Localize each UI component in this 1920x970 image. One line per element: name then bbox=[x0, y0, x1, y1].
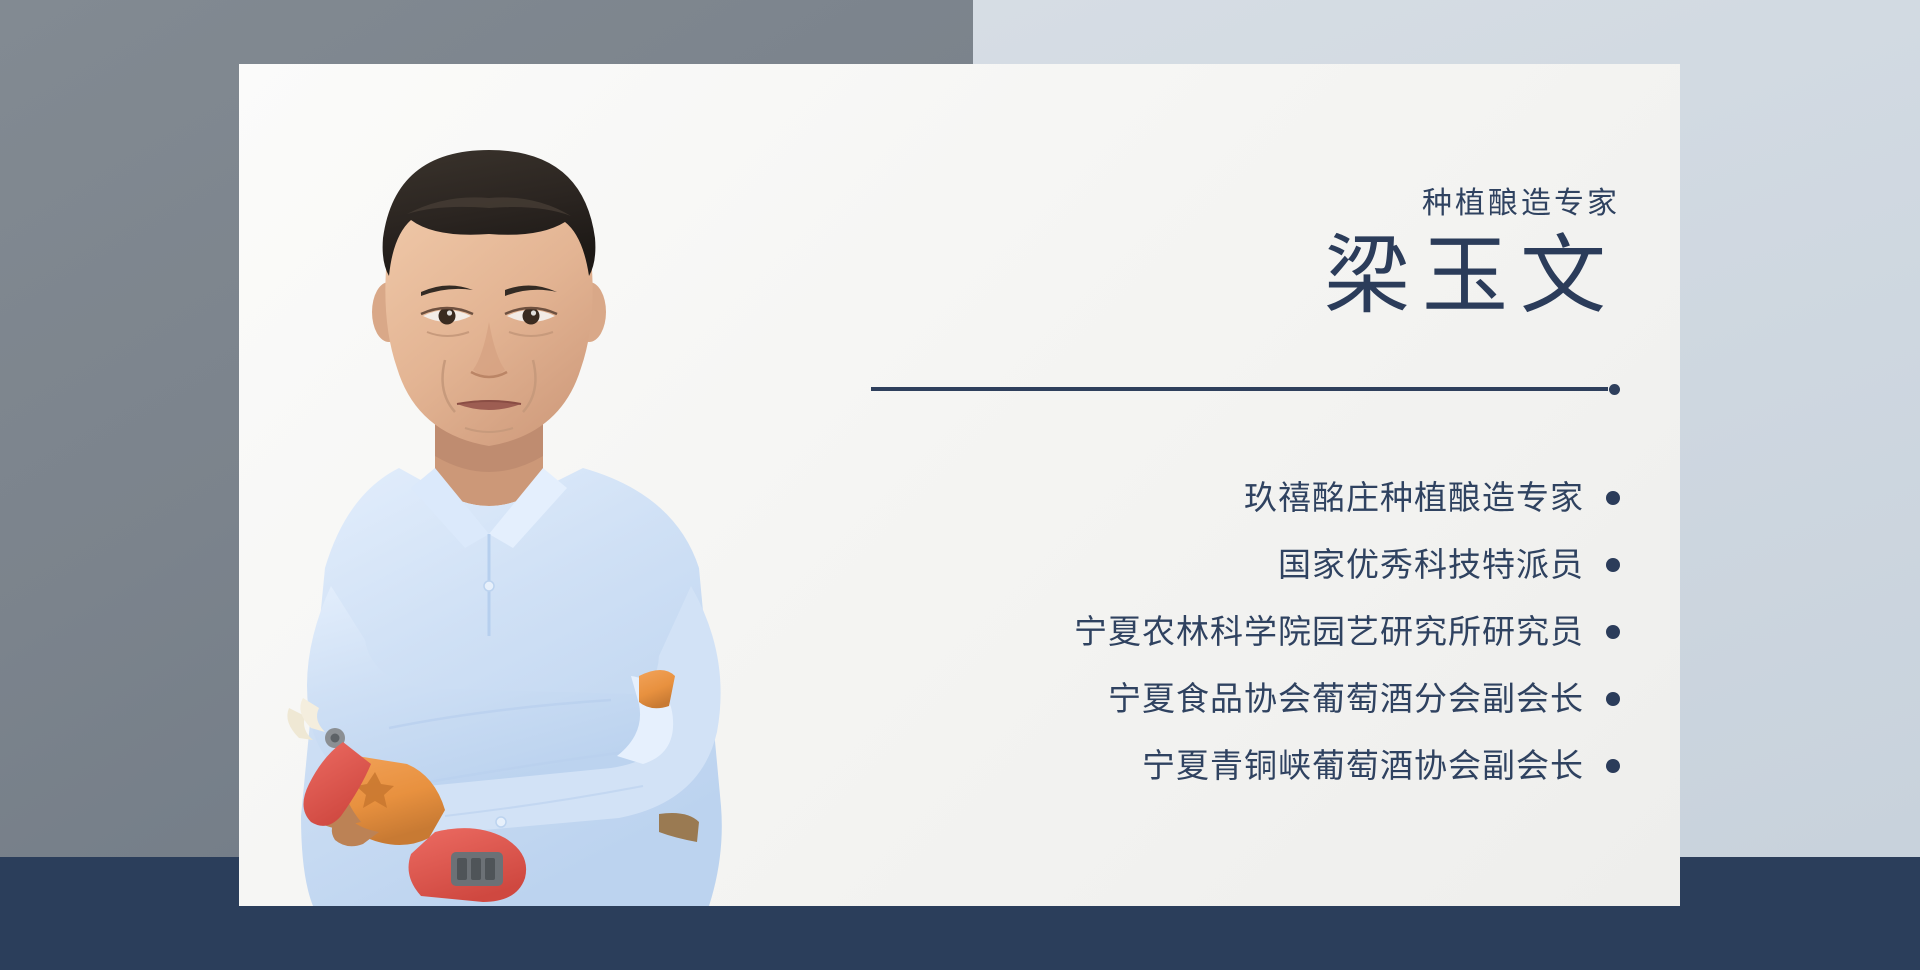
bullet-dot-icon bbox=[1606, 558, 1620, 572]
list-item: 宁夏食品协会葡萄酒分会副会长 bbox=[879, 665, 1620, 732]
list-item: 玖禧酩庄种植酿造专家 bbox=[879, 464, 1620, 531]
bullet-dot-icon bbox=[1606, 491, 1620, 505]
profile-card: 种植酿造专家 梁玉文 玖禧酩庄种植酿造专家 国家优秀科技特派员 宁夏农林科学院园… bbox=[239, 64, 1680, 906]
profile-name: 梁玉文 bbox=[1324, 231, 1620, 321]
credential-label: 玖禧酩庄种植酿造专家 bbox=[1244, 481, 1584, 514]
credential-label: 宁夏青铜峡葡萄酒协会副会长 bbox=[1142, 749, 1584, 782]
bullet-dot-icon bbox=[1606, 692, 1620, 706]
divider bbox=[871, 382, 1620, 396]
credentials-list: 玖禧酩庄种植酿造专家 国家优秀科技特派员 宁夏农林科学院园艺研究所研究员 宁夏食… bbox=[879, 464, 1620, 799]
divider-end-dot bbox=[1609, 384, 1620, 395]
profile-subtitle: 种植酿造专家 bbox=[1422, 189, 1620, 219]
divider-rule bbox=[871, 387, 1608, 391]
credential-label: 宁夏农林科学院园艺研究所研究员 bbox=[1074, 615, 1584, 648]
list-item: 宁夏青铜峡葡萄酒协会副会长 bbox=[879, 732, 1620, 799]
portrait-photo bbox=[239, 116, 779, 906]
list-item: 宁夏农林科学院园艺研究所研究员 bbox=[879, 598, 1620, 665]
list-item: 国家优秀科技特派员 bbox=[879, 531, 1620, 598]
bullet-dot-icon bbox=[1606, 759, 1620, 773]
bullet-dot-icon bbox=[1606, 625, 1620, 639]
credential-label: 宁夏食品协会葡萄酒分会副会长 bbox=[1108, 682, 1584, 715]
credential-label: 国家优秀科技特派员 bbox=[1278, 548, 1584, 581]
profile-text-column: 种植酿造专家 梁玉文 玖禧酩庄种植酿造专家 国家优秀科技特派员 宁夏农林科学院园… bbox=[879, 64, 1620, 906]
poster-canvas: 种植酿造专家 梁玉文 玖禧酩庄种植酿造专家 国家优秀科技特派员 宁夏农林科学院园… bbox=[0, 0, 1920, 970]
